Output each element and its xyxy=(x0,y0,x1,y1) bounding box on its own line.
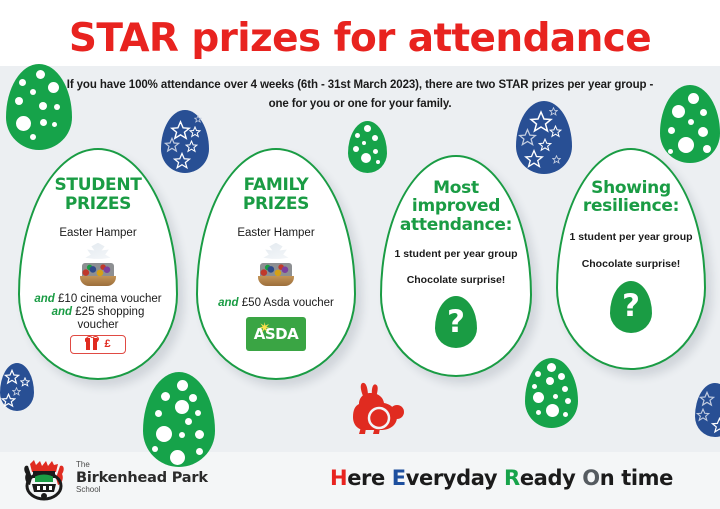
prize-extra-1: and £10 cinema voucher xyxy=(34,293,161,305)
prize-extra-1-text: £50 Asda voucher xyxy=(239,297,334,309)
prize-title-line1: FAMILY xyxy=(244,176,309,194)
school-name-block: The Birkenhead Park School xyxy=(76,461,208,495)
prize-title-line3: attendance: xyxy=(400,216,512,234)
prize-detail-2: Chocolate surprise! xyxy=(582,258,681,270)
prize-item-label: Easter Hamper xyxy=(59,227,136,239)
prize-detail-1: 1 student per year group xyxy=(394,248,517,260)
prize-egg-resilience[interactable]: Showing resilience: 1 student per year g… xyxy=(556,148,706,370)
prize-egg-most-improved[interactable]: Most improved attendance: 1 student per … xyxy=(380,155,532,377)
tagline-o: O xyxy=(582,466,599,490)
rabbit-icon xyxy=(345,382,407,434)
prize-extra-2: and £25 shopping xyxy=(52,306,145,318)
asda-logo: ASDA xyxy=(246,317,306,351)
prize-detail-2: Chocolate surprise! xyxy=(407,274,506,286)
poster-root: STAR prizes for attendance If you have 1… xyxy=(0,0,720,509)
prize-title-line1: Showing xyxy=(591,179,671,197)
school-name-the: The xyxy=(76,461,208,470)
mystery-egg-icon: ? xyxy=(610,281,652,333)
and-label-2: and xyxy=(52,306,72,318)
and-label-1: and xyxy=(34,293,54,305)
tagline-here: ere xyxy=(347,466,392,490)
prize-title-line2: PRIZES xyxy=(243,195,309,213)
prize-title-line1: STUDENT xyxy=(54,176,141,194)
prize-egg-family[interactable]: FAMILY PRIZES Easter Hamper and £50 Asda… xyxy=(196,148,356,380)
decor-egg-green-topleft xyxy=(6,64,72,150)
page-title: STAR prizes for attendance xyxy=(0,16,720,61)
prize-extra-2-text: £25 shopping xyxy=(72,306,144,318)
prize-title-line1: Most xyxy=(433,179,479,197)
gift-voucher-badge: £ xyxy=(70,335,126,354)
school-name-suffix: School xyxy=(76,486,208,495)
hamper-icon xyxy=(76,243,120,287)
prize-extra-1-text: £10 cinema voucher xyxy=(55,293,162,305)
school-crest-logo xyxy=(20,458,68,502)
prize-item-label: Easter Hamper xyxy=(237,227,314,239)
pound-symbol: £ xyxy=(104,339,110,350)
prize-extra-1: and £50 Asda voucher xyxy=(218,297,334,309)
tagline-ready: eady xyxy=(520,466,582,490)
tagline-h: H xyxy=(330,466,347,490)
prize-extra-3-text: voucher xyxy=(78,319,119,331)
hamper-icon xyxy=(254,243,298,287)
tagline-r: R xyxy=(504,466,520,490)
mystery-egg-icon: ? xyxy=(435,296,477,348)
tagline-everyday: veryday xyxy=(406,466,504,490)
question-mark-glyph: ? xyxy=(622,291,640,322)
tagline-e: E xyxy=(392,466,406,490)
prize-title-line2: resilience: xyxy=(583,197,679,215)
gift-icon xyxy=(85,338,98,350)
sparkle-icon xyxy=(259,322,270,333)
tagline-ontime: n time xyxy=(600,466,673,490)
school-name-main: Birkenhead Park xyxy=(76,470,208,486)
prize-detail-1: 1 student per year group xyxy=(569,231,692,243)
question-mark-glyph: ? xyxy=(447,307,465,338)
prize-egg-student[interactable]: STUDENT PRIZES Easter Hamper and £10 cin… xyxy=(18,148,178,380)
and-label-1: and xyxy=(218,297,238,309)
prize-title-line2: PRIZES xyxy=(65,195,131,213)
hero-tagline: Here Everyday Ready On time xyxy=(330,466,700,490)
prize-title-line2: improved xyxy=(412,197,500,215)
